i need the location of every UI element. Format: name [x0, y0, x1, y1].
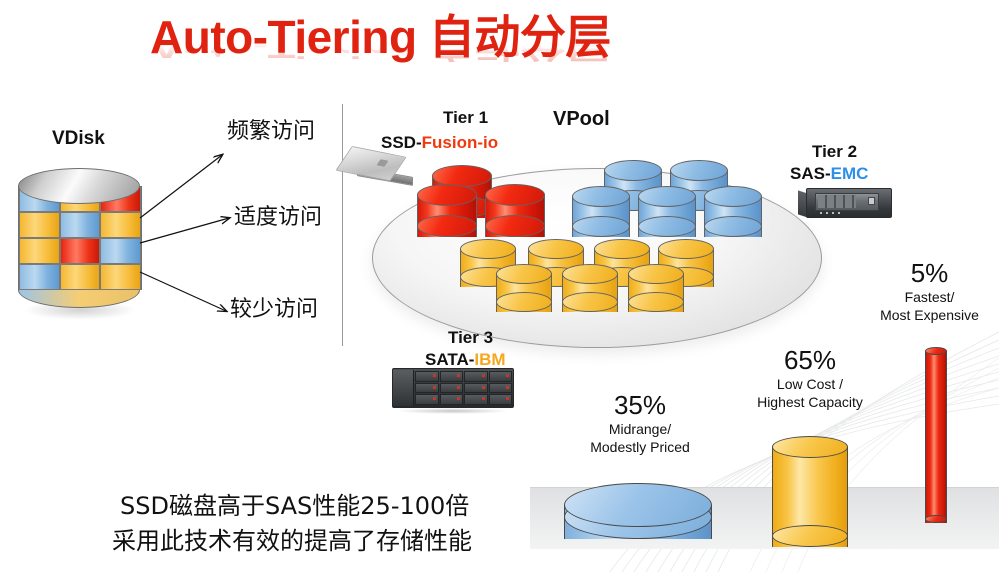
emc-status-dots	[820, 212, 842, 214]
ibm-drive-bay	[415, 394, 439, 405]
access-label-moderate: 适度访问	[234, 199, 322, 231]
vpool-label: VPool	[553, 108, 610, 131]
tier1-vendor: Fusion-io	[422, 133, 498, 152]
ibm-drive-bay	[489, 394, 513, 405]
tier3-cylinder	[562, 264, 618, 324]
tier3-cylinder	[496, 264, 552, 324]
vdisk-top-cap	[18, 168, 140, 204]
vdisk-block	[19, 264, 60, 290]
access-label-frequent: 频繁访问	[227, 113, 315, 145]
chart-desc-35-line1: Midrange/	[566, 420, 714, 438]
ibm-drive-bay	[489, 383, 513, 394]
chart-desc-65-line2: Highest Capacity	[718, 393, 902, 411]
chart-desc-65-line1: Low Cost /	[718, 375, 902, 393]
chart-label-65: 65% Low Cost / Highest Capacity	[718, 345, 902, 411]
ibm-drive-bays	[415, 371, 512, 405]
tier3-label: Tier 3	[448, 328, 493, 348]
tier2-tech-label: SAS-EMC	[790, 164, 868, 184]
access-label-rare: 较少访问	[230, 291, 318, 323]
ibm-drive-bay	[415, 383, 439, 394]
vdisk-block	[100, 264, 141, 290]
vdisk-block	[60, 212, 101, 238]
tier3-vendor: IBM	[474, 350, 505, 369]
arrow-rare	[140, 272, 226, 311]
chart-bar-5	[925, 347, 947, 537]
footer-line-1: SSD磁盘高于SAS性能25-100倍	[120, 486, 469, 521]
title-reflection-cn: 自动分层	[429, 31, 611, 64]
vdisk-block	[19, 212, 60, 238]
vdisk-block	[60, 238, 101, 264]
slide-canvas: Auto-Tiering 自动分层 Auto-Tiering 自动分层	[0, 0, 999, 572]
vdisk-block	[19, 238, 60, 264]
chart-label-35: 35% Midrange/ Modestly Priced	[566, 390, 714, 456]
emc-vents	[818, 195, 856, 208]
tier3-tech-label: SATA-IBM	[425, 350, 506, 370]
ibm-drive-bay	[440, 383, 464, 394]
ibm-drive-bay	[464, 394, 488, 405]
chart-desc-5-line2: Most Expensive	[860, 306, 999, 324]
vdisk-block	[60, 264, 101, 290]
vertical-divider	[342, 104, 343, 346]
slide-title-block: Auto-Tiering 自动分层 Auto-Tiering 自动分层	[150, 14, 770, 104]
chart-percent-35: 35%	[566, 390, 714, 420]
vdisk-label: VDisk	[52, 128, 105, 150]
vdisk-cylinder	[18, 168, 140, 308]
ibm-drive-bay	[464, 371, 488, 382]
tier2-vendor: EMC	[831, 164, 869, 183]
emc-indicator	[868, 197, 875, 205]
tier3-cylinder	[628, 264, 684, 324]
emc-array-icon	[806, 184, 892, 220]
ibm-drive-bay	[440, 394, 464, 405]
title-reflection-en: Auto-Tiering	[150, 32, 417, 64]
chart-bar-35	[564, 483, 712, 559]
chart-percent-65: 65%	[718, 345, 902, 375]
tier1-label: Tier 1	[443, 108, 488, 128]
tier3-tech: SATA-	[425, 350, 474, 369]
ssd-drive-icon	[352, 146, 414, 192]
arrow-moderate	[140, 218, 229, 243]
ibm-shadow	[396, 408, 510, 414]
chart-label-5: 5% Fastest/ Most Expensive	[860, 258, 999, 324]
ibm-drive-bay	[440, 371, 464, 382]
chart-desc-35-line2: Modestly Priced	[566, 438, 714, 456]
ibm-drive-bay	[489, 371, 513, 382]
chart-desc-5-line1: Fastest/	[860, 288, 999, 306]
chart-bar-65	[772, 436, 848, 562]
arrow-frequent	[140, 155, 222, 218]
ibm-drive-bay	[464, 383, 488, 394]
footer-line-2: 采用此技术有效的提高了存储性能	[112, 521, 472, 556]
title-reflection: Auto-Tiering 自动分层	[150, 33, 770, 62]
tier2-tech: SAS-	[790, 164, 831, 183]
ibm-drive-bay	[415, 371, 439, 382]
vdisk-block	[100, 212, 141, 238]
chart-percent-5: 5%	[860, 258, 999, 288]
ibm-bezel	[393, 370, 414, 406]
ibm-array-icon	[392, 368, 514, 412]
vdisk-block	[100, 238, 141, 264]
tier2-label: Tier 2	[812, 142, 857, 162]
